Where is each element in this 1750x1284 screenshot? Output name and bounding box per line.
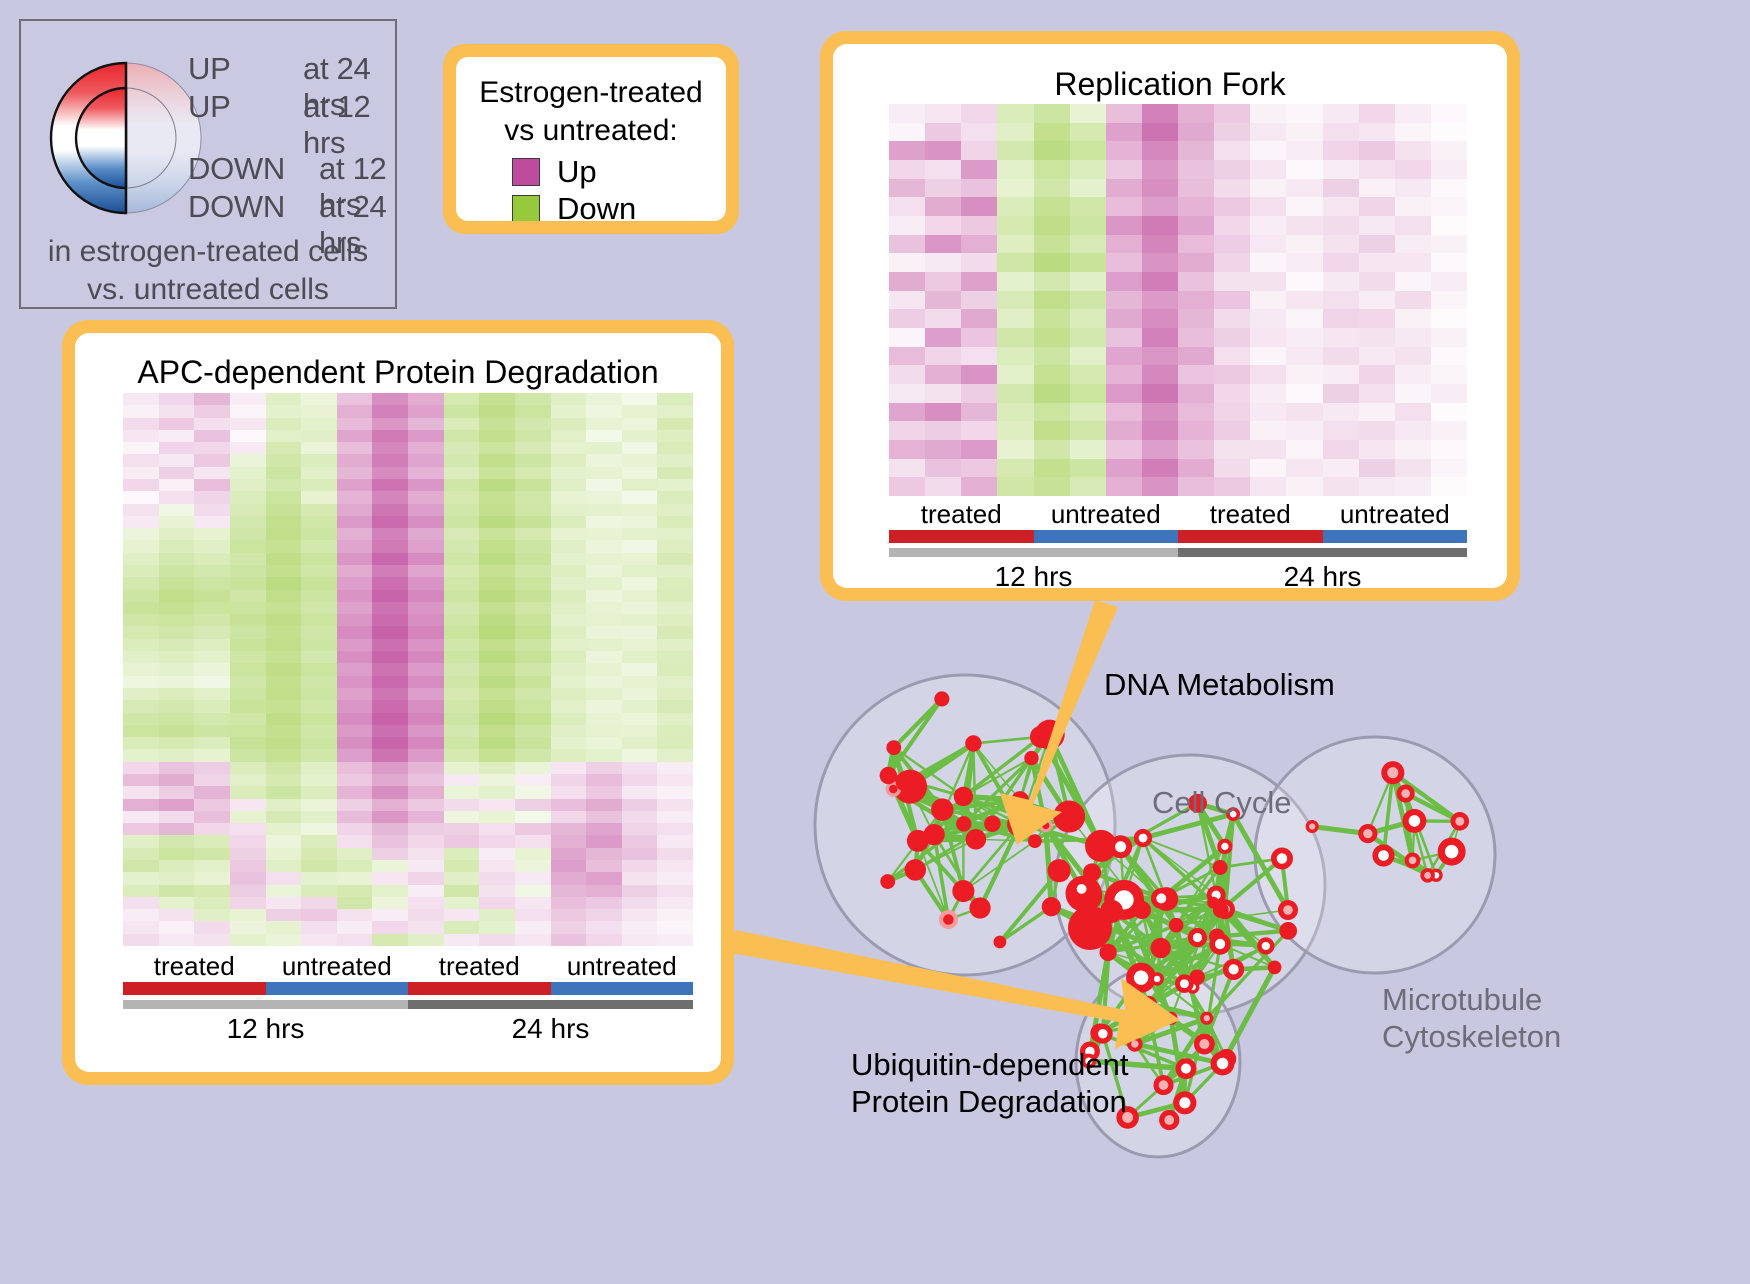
network-node[interactable]	[954, 787, 973, 806]
heatmap-cell	[372, 885, 408, 897]
heatmap-cell	[515, 774, 551, 786]
heatmap-cell	[515, 405, 551, 417]
heatmap-cell	[1034, 179, 1070, 198]
heatmap-cell	[408, 651, 444, 663]
heatmap-cell	[1250, 309, 1286, 328]
heatmap-cell	[444, 565, 480, 577]
heatmap-cell	[515, 835, 551, 847]
heatmap-cell	[266, 897, 302, 909]
network-node-core	[1455, 817, 1464, 826]
heatmap-cell	[230, 626, 266, 638]
heatmap-cell	[372, 676, 408, 688]
heatmap-cell	[1323, 216, 1359, 235]
heatmap-cell	[479, 676, 515, 688]
heatmap-cell	[925, 440, 961, 459]
heatmap-cell	[159, 749, 195, 761]
heatmap-cell	[337, 602, 373, 614]
heatmap-cell	[301, 749, 337, 761]
heatmap-cell	[479, 614, 515, 626]
heatmap-cell	[301, 700, 337, 712]
heatmap-cell	[337, 676, 373, 688]
heatmap-cell	[1431, 347, 1467, 366]
heatmap-cell	[266, 430, 302, 442]
heatmap-cell	[301, 577, 337, 589]
heatmap-cell	[586, 860, 622, 872]
heatmap-cell	[1431, 477, 1467, 496]
heatmap-cell	[551, 737, 587, 749]
heatmap-cell	[301, 860, 337, 872]
heatmap-cell	[123, 540, 159, 552]
network-node-core	[1115, 841, 1126, 852]
heatmap-cell	[159, 442, 195, 454]
network-node[interactable]	[1083, 863, 1101, 881]
heatmap-cell	[515, 491, 551, 503]
apc-bar-12hrs	[123, 1000, 408, 1009]
heatmap-cell	[551, 639, 587, 651]
heatmap-cell	[622, 860, 658, 872]
heatmap-cell	[586, 467, 622, 479]
heatmap-cell	[444, 577, 480, 589]
network-node[interactable]	[880, 767, 897, 784]
heatmap-cell	[266, 885, 302, 897]
heatmap-cell	[230, 614, 266, 626]
network-node-core	[1154, 976, 1160, 982]
heatmap-cell	[1359, 179, 1395, 198]
apc-axis: treated untreated treated untreated 12 h	[123, 951, 693, 1045]
network-node[interactable]	[896, 771, 917, 792]
heatmap-cell	[337, 885, 373, 897]
rf-bar-untreated-12	[1034, 530, 1179, 543]
rf-group-label-3: untreated	[1323, 499, 1468, 530]
heatmap-cell	[159, 565, 195, 577]
heatmap-cell	[301, 639, 337, 651]
heatmap-cell	[1070, 347, 1106, 366]
heatmap-cell	[1106, 384, 1142, 403]
heatmap-cell	[444, 921, 480, 933]
heatmap-cell	[337, 713, 373, 725]
heatmap-cell	[1106, 459, 1142, 478]
heatmap-cell	[266, 737, 302, 749]
heatmap-cell	[657, 848, 693, 860]
heatmap-cell	[586, 835, 622, 847]
heatmap-cell	[1070, 309, 1106, 328]
apc-bar-untreated-24	[551, 982, 694, 995]
heatmap-cell	[1070, 123, 1106, 142]
heatmap-cell	[997, 309, 1033, 328]
network-node[interactable]	[1268, 961, 1282, 975]
heatmap-cell	[551, 504, 587, 516]
heatmap-cell	[123, 590, 159, 602]
heatmap-cell	[1178, 160, 1214, 179]
network-node[interactable]	[1151, 938, 1171, 958]
heatmap-cell	[925, 141, 961, 160]
network-node[interactable]	[966, 829, 987, 850]
network-node[interactable]	[1011, 791, 1029, 809]
heatmap-cell	[266, 639, 302, 651]
heatmap-cell	[230, 897, 266, 909]
heatmap-cell	[515, 848, 551, 860]
network-node[interactable]	[1068, 906, 1112, 950]
heatmap-cell	[622, 540, 658, 552]
heatmap-cell	[159, 577, 195, 589]
heatmap-cell	[515, 626, 551, 638]
heatmap-cell	[444, 700, 480, 712]
heatmap-cell	[515, 799, 551, 811]
heatmap-cell	[159, 921, 195, 933]
heatmap-cell	[123, 614, 159, 626]
heatmap-cell	[622, 848, 658, 860]
heatmap-cell	[1286, 197, 1322, 216]
heatmap-cell	[230, 577, 266, 589]
heatmap-cell	[1323, 440, 1359, 459]
heatmap-cell	[1034, 347, 1070, 366]
heatmap-cell	[301, 602, 337, 614]
heatmap-cell	[1178, 291, 1214, 310]
network-node[interactable]	[1133, 901, 1151, 919]
heatmap-cell	[230, 934, 266, 946]
heatmap-cell	[1142, 328, 1178, 347]
heatmap-cell	[1106, 403, 1142, 422]
network-node[interactable]	[965, 735, 981, 751]
heatmap-cell	[1323, 309, 1359, 328]
heatmap-cell	[1286, 160, 1322, 179]
heatmap-cell	[1070, 179, 1106, 198]
heatmap-cell	[266, 553, 302, 565]
heatmap-cell	[266, 467, 302, 479]
heatmap-cell	[961, 253, 997, 272]
network-node[interactable]	[984, 815, 1001, 832]
heatmap-cell	[1142, 384, 1178, 403]
heatmap-cell	[123, 848, 159, 860]
network-node[interactable]	[1213, 902, 1229, 918]
apc-heatmap	[123, 393, 693, 946]
heatmap-cell	[1431, 459, 1467, 478]
heatmap-cell	[444, 676, 480, 688]
heatmap-cell	[1323, 291, 1359, 310]
network-node[interactable]	[934, 691, 949, 706]
heatmap-cell	[1359, 477, 1395, 496]
heatmap-cell	[301, 528, 337, 540]
heatmap-cell	[1286, 384, 1322, 403]
heatmap-cell	[551, 454, 587, 466]
heatmap-cell	[479, 725, 515, 737]
network-node[interactable]	[969, 897, 990, 918]
heatmap-cell	[1323, 179, 1359, 198]
heatmap-cell	[586, 418, 622, 430]
heatmap-cell	[1250, 179, 1286, 198]
heatmap-cell	[622, 688, 658, 700]
heatmap-cell	[622, 737, 658, 749]
heatmap-cell	[408, 786, 444, 798]
network-node[interactable]	[907, 830, 929, 852]
heatmap-cell	[301, 467, 337, 479]
heatmap-cell	[889, 160, 925, 179]
heatmap-cell	[622, 749, 658, 761]
heatmap-cell	[515, 934, 551, 946]
heatmap-cell	[1323, 477, 1359, 496]
heatmap-cell	[159, 700, 195, 712]
heatmap-cell	[889, 123, 925, 142]
heatmap-cell	[230, 737, 266, 749]
heatmap-cell	[1178, 141, 1214, 160]
heatmap-cell	[997, 253, 1033, 272]
network-node[interactable]	[1169, 918, 1184, 933]
heatmap-cell	[657, 934, 693, 946]
heatmap-cell	[586, 393, 622, 405]
network-node[interactable]	[1213, 860, 1228, 875]
heatmap-cell	[1250, 197, 1286, 216]
heatmap-cell	[1431, 328, 1467, 347]
heatmap-cell	[889, 403, 925, 422]
heatmap-cell	[551, 467, 587, 479]
heatmap-cell	[1395, 421, 1431, 440]
heatmap-cell	[1142, 216, 1178, 235]
heatmap-cell	[1431, 403, 1467, 422]
heatmap-cell	[586, 762, 622, 774]
heatmap-cell	[444, 626, 480, 638]
heatmap-cell	[372, 614, 408, 626]
heatmap-cell	[657, 885, 693, 897]
heatmap-cell	[1359, 253, 1395, 272]
network-node-core	[1134, 970, 1148, 984]
heatmap-cell	[123, 774, 159, 786]
heatmap-cell	[1070, 104, 1106, 123]
heatmap-cell	[925, 272, 961, 291]
heatmap-cell	[1359, 272, 1395, 291]
colorwheel-graphic	[49, 43, 204, 233]
heatmap-cell	[159, 823, 195, 835]
heatmap-cell	[586, 749, 622, 761]
heatmap-cell	[337, 749, 373, 761]
rf-bar-24hrs	[1178, 548, 1467, 557]
network-node[interactable]	[956, 816, 971, 831]
heatmap-cell	[622, 885, 658, 897]
heatmap-cell	[551, 430, 587, 442]
heatmap-cell	[961, 440, 997, 459]
heatmap-cell	[159, 762, 195, 774]
heatmap-cell	[230, 725, 266, 737]
heatmap-cell	[159, 516, 195, 528]
heatmap-cell	[586, 934, 622, 946]
heatmap-cell	[586, 577, 622, 589]
network-node[interactable]	[1053, 801, 1085, 833]
heatmap-cell	[230, 799, 266, 811]
heatmap-cell	[925, 459, 961, 478]
heatmap-cell	[159, 663, 195, 675]
network-node[interactable]	[931, 798, 954, 821]
heatmap-cell	[1106, 477, 1142, 496]
network-node-core	[1229, 964, 1239, 974]
heatmap-cell	[266, 590, 302, 602]
legend-item-down-label: Down	[557, 191, 636, 222]
heatmap-cell	[1034, 365, 1070, 384]
network-node-core	[1217, 1058, 1229, 1070]
heatmap-cell	[1395, 179, 1431, 198]
network-node[interactable]	[886, 740, 901, 755]
heatmap-cell	[1250, 365, 1286, 384]
heatmap-cell	[622, 528, 658, 540]
heatmap-cell	[444, 405, 480, 417]
heatmap-cell	[444, 749, 480, 761]
heatmap-cell	[444, 430, 480, 442]
heatmap-cell	[159, 725, 195, 737]
heatmap-cell	[1142, 179, 1178, 198]
heatmap-cell	[159, 614, 195, 626]
network-node[interactable]	[993, 936, 1006, 949]
heatmap-cell	[622, 430, 658, 442]
heatmap-cell	[194, 885, 230, 897]
heatmap-cell	[515, 393, 551, 405]
heatmap-cell	[408, 639, 444, 651]
heatmap-cell	[372, 430, 408, 442]
heatmap-cell	[515, 762, 551, 774]
heatmap-cell	[1214, 328, 1250, 347]
network-node-core	[1283, 905, 1293, 915]
heatmap-cell	[1142, 123, 1178, 142]
heatmap-cell	[1034, 440, 1070, 459]
heatmap-cell	[372, 737, 408, 749]
legend-title-line1: Estrogen-treated	[456, 74, 726, 112]
heatmap-cell	[586, 700, 622, 712]
heatmap-cell	[551, 540, 587, 552]
heatmap-cell	[997, 440, 1033, 459]
heatmap-cell	[337, 590, 373, 602]
heatmap-cell	[444, 516, 480, 528]
cluster-label-dna-metabolism: DNA Metabolism	[1104, 667, 1335, 703]
network-node-core	[1168, 1015, 1174, 1021]
heatmap-cell	[408, 811, 444, 823]
heatmap-cell	[515, 688, 551, 700]
heatmap-cell	[1323, 141, 1359, 160]
heatmap-cell	[1286, 141, 1322, 160]
heatmap-cell	[925, 123, 961, 142]
heatmap-cell	[551, 614, 587, 626]
heatmap-cell	[622, 602, 658, 614]
network-node[interactable]	[1028, 834, 1042, 848]
heatmap-cell	[657, 835, 693, 847]
heatmap-cell	[586, 897, 622, 909]
heatmap-cell	[123, 454, 159, 466]
heatmap-cell	[372, 749, 408, 761]
heatmap-cell	[997, 123, 1033, 142]
network-node[interactable]	[1279, 922, 1297, 940]
heatmap-cell	[194, 405, 230, 417]
heatmap-cell	[123, 577, 159, 589]
network-node[interactable]	[880, 874, 895, 889]
heatmap-cell	[1286, 291, 1322, 310]
heatmap-cell	[266, 909, 302, 921]
heatmap-cell	[1431, 291, 1467, 310]
heatmap-cell	[889, 440, 925, 459]
heatmap-cell	[515, 639, 551, 651]
heatmap-cell	[194, 663, 230, 675]
heatmap-cell	[1070, 403, 1106, 422]
heatmap-cell	[1142, 160, 1178, 179]
heatmap-cell	[444, 774, 480, 786]
heatmap-cell	[337, 688, 373, 700]
heatmap-cell	[961, 403, 997, 422]
apc-bar-treated-24	[408, 982, 551, 995]
heatmap-cell	[1395, 328, 1431, 347]
heatmap-cell	[372, 467, 408, 479]
heatmap-cell	[444, 725, 480, 737]
heatmap-cell	[1359, 403, 1395, 422]
heatmap-cell	[337, 504, 373, 516]
heatmap-cell	[123, 442, 159, 454]
rf-bar-untreated-24	[1323, 530, 1468, 543]
heatmap-cell	[657, 467, 693, 479]
heatmap-cell	[444, 786, 480, 798]
heatmap-cell	[1106, 309, 1142, 328]
heatmap-cell	[1142, 104, 1178, 123]
heatmap-cell	[479, 872, 515, 884]
heatmap-cell	[1395, 235, 1431, 254]
heatmap-cell	[337, 835, 373, 847]
heatmap-cell	[123, 762, 159, 774]
heatmap-cell	[301, 663, 337, 675]
heatmap-cell	[586, 540, 622, 552]
network-node[interactable]	[952, 880, 974, 902]
heatmap-cell	[657, 590, 693, 602]
heatmap-cell	[408, 553, 444, 565]
heatmap-cell	[408, 577, 444, 589]
heatmap-cell	[1250, 421, 1286, 440]
heatmap-cell	[551, 872, 587, 884]
network-node[interactable]	[1042, 897, 1061, 916]
heatmap-cell	[925, 104, 961, 123]
heatmap-cell	[479, 909, 515, 921]
heatmap-cell	[551, 909, 587, 921]
heatmap-cell	[159, 786, 195, 798]
network-node-core	[1181, 1064, 1191, 1074]
heatmap-cell	[372, 811, 408, 823]
heatmap-cell	[889, 347, 925, 366]
heatmap-cell	[479, 799, 515, 811]
heatmap-cell	[479, 934, 515, 946]
heatmap-cell	[123, 799, 159, 811]
heatmap-cell	[230, 762, 266, 774]
heatmap-cell	[479, 688, 515, 700]
heatmap-cell	[1178, 459, 1214, 478]
network-node[interactable]	[1024, 751, 1038, 765]
heatmap-cell	[961, 216, 997, 235]
heatmap-cell	[123, 934, 159, 946]
heatmap-cell	[622, 897, 658, 909]
heatmap-cell	[586, 430, 622, 442]
heatmap-cell	[372, 516, 408, 528]
heatmap-cell	[1070, 235, 1106, 254]
heatmap-cell	[657, 393, 693, 405]
heatmap-cell	[123, 909, 159, 921]
heatmap-cell	[925, 216, 961, 235]
heatmap-cell	[1070, 291, 1106, 310]
heatmap-cell	[372, 909, 408, 921]
heatmap-cell	[622, 442, 658, 454]
heatmap-cell	[622, 934, 658, 946]
heatmap-cell	[408, 835, 444, 847]
network-node[interactable]	[1030, 726, 1052, 748]
colorwheel-legend-panel: UP at 24 hrs UP at 12 hrs DOWN at 12 hrs…	[19, 19, 397, 309]
heatmap-cell	[622, 676, 658, 688]
network-node[interactable]	[1007, 811, 1033, 837]
heatmap-cell	[408, 921, 444, 933]
network-node[interactable]	[1048, 859, 1071, 882]
heatmap-cell	[1395, 403, 1431, 422]
heatmap-cell	[301, 885, 337, 897]
network-node[interactable]	[905, 859, 926, 880]
heatmap-cell	[337, 516, 373, 528]
heatmap-cell	[1359, 141, 1395, 160]
